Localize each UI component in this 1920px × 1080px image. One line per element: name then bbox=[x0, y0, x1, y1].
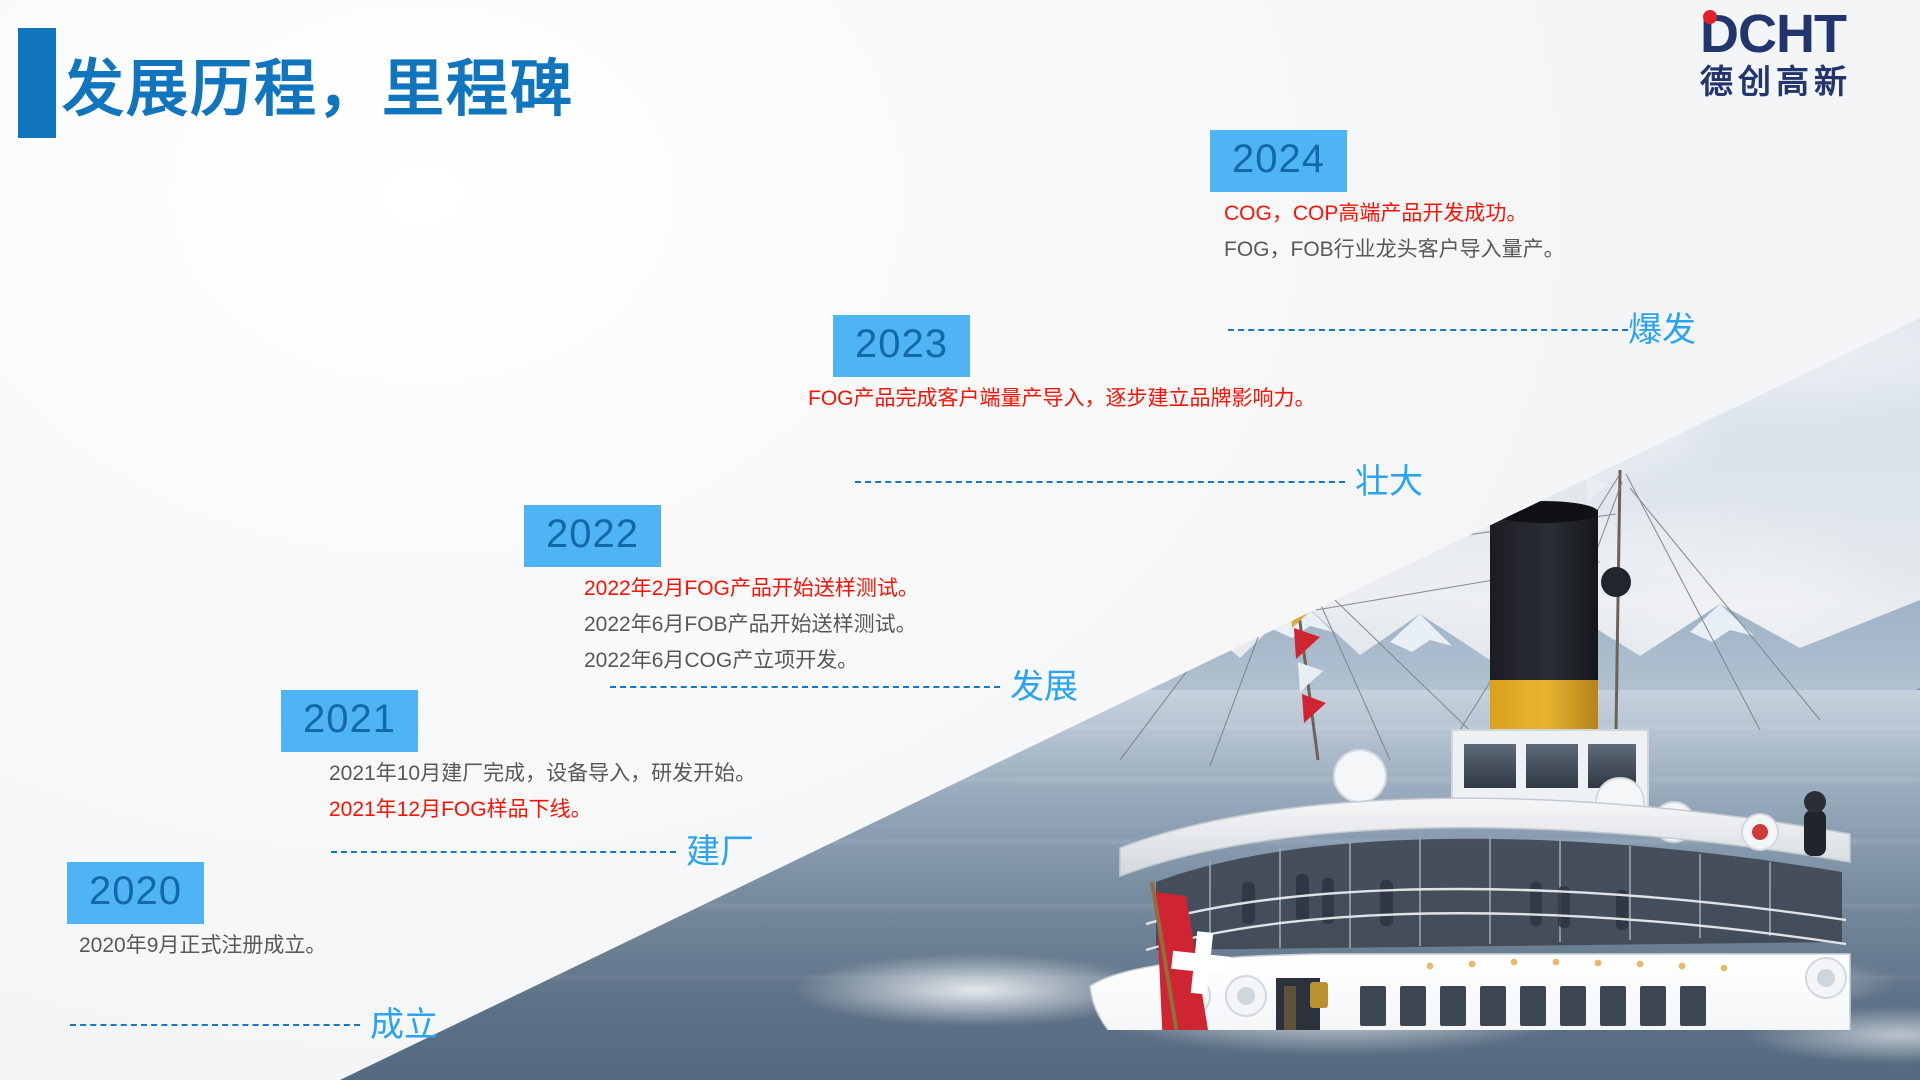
logo-wordmark: DCHT bbox=[1700, 6, 1896, 62]
milestone-line: 2021年10月建厂完成，设备导入，研发开始。 bbox=[329, 756, 756, 792]
title-accent-bar bbox=[18, 28, 56, 138]
timeline-entry-2023: 2023 FOG产品完成客户端量产导入，逐步建立品牌影响力。 bbox=[833, 315, 1316, 417]
year-badge-2022[interactable]: 2022 bbox=[524, 505, 661, 567]
phase-marker-2023: 壮大 bbox=[855, 465, 1423, 499]
phase-label: 成立 bbox=[370, 1008, 438, 1042]
milestone-line: 2022年6月FOB产品开始送样测试。 bbox=[584, 607, 919, 643]
timeline-entry-2022: 2022 2022年2月FOG产品开始送样测试。 2022年6月FOB产品开始送… bbox=[524, 505, 919, 679]
phase-label: 发展 bbox=[1010, 670, 1078, 704]
milestone-line: FOG产品完成客户端量产导入，逐步建立品牌影响力。 bbox=[808, 381, 1316, 417]
year-badge-2024[interactable]: 2024 bbox=[1210, 130, 1347, 192]
year-badge-2020[interactable]: 2020 bbox=[67, 862, 204, 924]
timeline-entry-2020: 2020 2020年9月正式注册成立。 bbox=[67, 862, 326, 964]
dashed-rule bbox=[70, 1024, 360, 1026]
entry-lines-2020: 2020年9月正式注册成立。 bbox=[79, 928, 326, 964]
milestone-line: 2020年9月正式注册成立。 bbox=[79, 928, 326, 964]
milestone-line: FOG，FOB行业龙头客户导入量产。 bbox=[1224, 232, 1565, 268]
phase-marker-2020: 成立 bbox=[70, 1008, 438, 1042]
entry-lines-2021: 2021年10月建厂完成，设备导入，研发开始。 2021年12月FOG样品下线。 bbox=[329, 756, 756, 828]
dashed-rule bbox=[610, 686, 1000, 688]
phase-label: 建厂 bbox=[686, 835, 754, 869]
paddle-steamer bbox=[1060, 430, 1880, 1030]
dashed-rule bbox=[855, 481, 1345, 483]
logo-wordmark-row: DCHT bbox=[1700, 6, 1896, 62]
year-badge-2023[interactable]: 2023 bbox=[833, 315, 970, 377]
milestone-line: COG，COP高端产品开发成功。 bbox=[1224, 196, 1565, 232]
phase-marker-2021: 建厂 bbox=[331, 835, 754, 869]
entry-lines-2024: COG，COP高端产品开发成功。 FOG，FOB行业龙头客户导入量产。 bbox=[1224, 196, 1565, 268]
slide-canvas: 发展历程，里程碑 DCHT 德创高新 2024 COG，COP高端产品开发成功。… bbox=[0, 0, 1920, 1080]
logo-dot-icon bbox=[1703, 10, 1717, 24]
timeline-entry-2024: 2024 COG，COP高端产品开发成功。 FOG，FOB行业龙头客户导入量产。 bbox=[1210, 130, 1565, 268]
milestone-line: 2022年2月FOG产品开始送样测试。 bbox=[584, 571, 919, 607]
milestone-line: 2021年12月FOG样品下线。 bbox=[329, 792, 756, 828]
page-title: 发展历程，里程碑 bbox=[62, 38, 574, 128]
year-badge-2021[interactable]: 2021 bbox=[281, 690, 418, 752]
logo-chinese-name: 德创高新 bbox=[1700, 62, 1896, 102]
timeline-entry-2021: 2021 2021年10月建厂完成，设备导入，研发开始。 2021年12月FOG… bbox=[281, 690, 756, 828]
entry-lines-2022: 2022年2月FOG产品开始送样测试。 2022年6月FOB产品开始送样测试。 … bbox=[584, 571, 919, 679]
phase-label: 爆发 bbox=[1628, 313, 1696, 347]
dashed-rule bbox=[331, 851, 676, 853]
company-logo: DCHT 德创高新 bbox=[1700, 6, 1896, 110]
entry-lines-2023: FOG产品完成客户端量产导入，逐步建立品牌影响力。 bbox=[808, 381, 1316, 417]
phase-label: 壮大 bbox=[1355, 465, 1423, 499]
